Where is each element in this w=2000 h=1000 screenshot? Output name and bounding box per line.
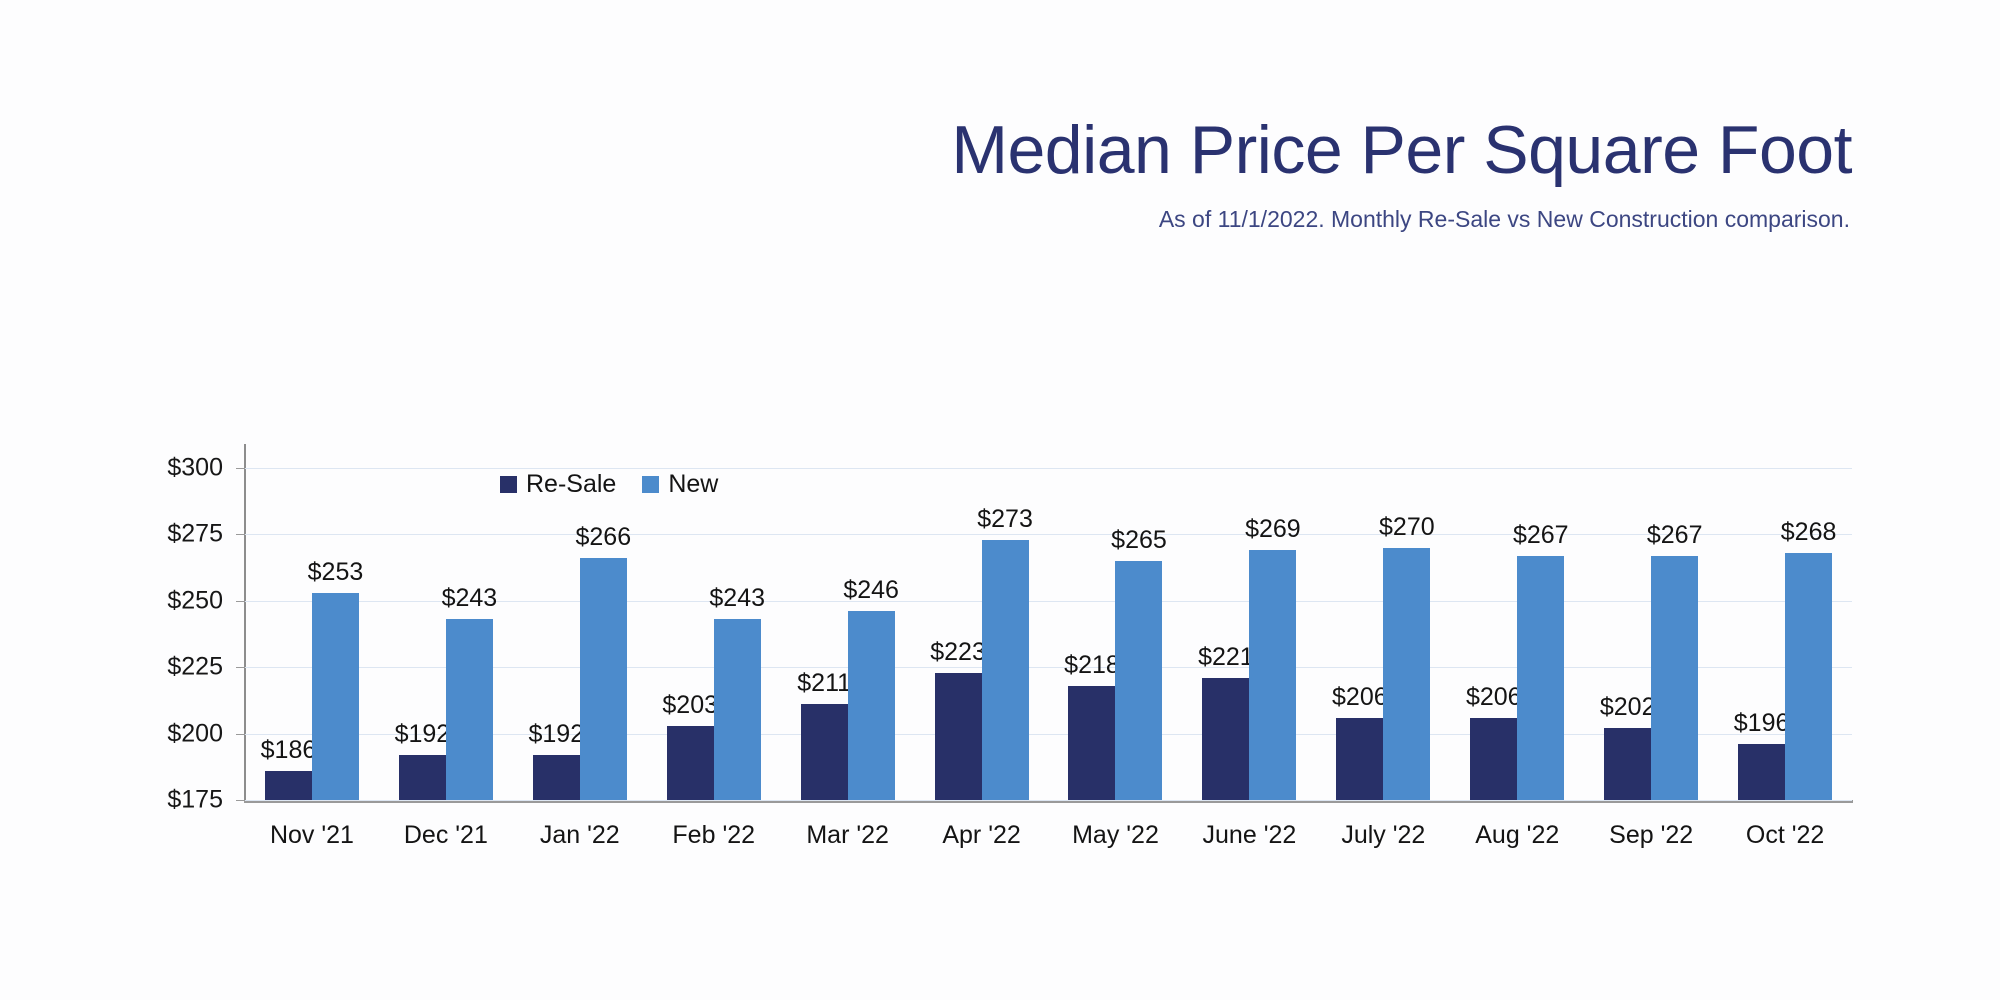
bar-new[interactable]: $243: [446, 619, 493, 800]
chart-plot-area: $300$275$250$225$200$175 $186$253Nov '21…: [245, 468, 1852, 800]
y-axis-tick-mark: [236, 468, 245, 469]
y-axis-tick-label: $225: [167, 653, 223, 682]
bar-slot: $243: [714, 468, 761, 800]
x-axis-tick-label: Nov '21: [270, 821, 354, 850]
x-axis-tick-label: Mar '22: [806, 821, 889, 850]
legend-square-swatch-icon: [500, 476, 517, 493]
bar-value-label: $269: [1245, 515, 1301, 544]
bar-value-label: $243: [709, 584, 765, 613]
bar-value-label: $223: [930, 638, 986, 667]
bar-value-label: $267: [1647, 521, 1703, 550]
legend-item-new[interactable]: New: [642, 470, 718, 499]
y-axis-tick-mark: [236, 800, 245, 801]
bar-value-label: $265: [1111, 526, 1167, 555]
bar-slot: $202: [1604, 468, 1651, 800]
bar-slot: $206: [1336, 468, 1383, 800]
bar-slot: $206: [1470, 468, 1517, 800]
x-axis-tick-label: June '22: [1203, 821, 1297, 850]
x-axis-tick-label: Apr '22: [942, 821, 1020, 850]
x-axis-tick-label: Aug '22: [1475, 821, 1559, 850]
bar-re-sale[interactable]: $186: [265, 771, 312, 800]
legend-item-label: New: [668, 470, 718, 499]
x-axis-tick-label: Feb '22: [672, 821, 755, 850]
gridline: [245, 800, 1852, 801]
bar-new[interactable]: $266: [580, 558, 627, 800]
bar-value-label: $270: [1379, 513, 1435, 542]
bar-re-sale[interactable]: $192: [533, 755, 580, 800]
bar-slot: $267: [1651, 468, 1698, 800]
bar-re-sale[interactable]: $202: [1604, 728, 1651, 800]
bar-slot: $221: [1202, 468, 1249, 800]
bar-slot: $192: [399, 468, 446, 800]
bar-re-sale[interactable]: $206: [1470, 718, 1517, 800]
x-axis-tick-label: July '22: [1341, 821, 1425, 850]
bar-new[interactable]: $268: [1785, 553, 1832, 800]
bar-value-label: $206: [1466, 683, 1522, 712]
bar-slot: $203: [667, 468, 714, 800]
bar-groups: $186$253Nov '21$192$243Dec '21$192$266Ja…: [245, 468, 1852, 800]
bar-slot: $218: [1068, 468, 1115, 800]
bar-new[interactable]: $253: [312, 593, 359, 800]
y-axis-tick-label: $275: [167, 520, 223, 549]
bar-re-sale[interactable]: $192: [399, 755, 446, 800]
bar-value-label: $192: [395, 720, 451, 749]
bar-slot: $269: [1249, 468, 1296, 800]
bar-new[interactable]: $269: [1249, 550, 1296, 800]
y-axis-tick-label: $175: [167, 786, 223, 815]
bar-slot: $192: [533, 468, 580, 800]
x-axis-tick-label: Dec '21: [404, 821, 488, 850]
bar-group: $206$270July '22: [1316, 468, 1450, 800]
bar-group: $203$243Feb '22: [647, 468, 781, 800]
x-axis-tick-label: Oct '22: [1746, 821, 1824, 850]
bar-group: $218$265May '22: [1049, 468, 1183, 800]
bar-re-sale[interactable]: $211: [801, 704, 848, 800]
bar-slot: $243: [446, 468, 493, 800]
bar-new[interactable]: $270: [1383, 548, 1430, 800]
bar-value-label: $268: [1781, 518, 1837, 547]
bar-value-label: $243: [442, 584, 498, 613]
bar-group: $196$268Oct '22: [1718, 468, 1852, 800]
bar-re-sale[interactable]: $206: [1336, 718, 1383, 800]
bar-value-label: $211: [797, 669, 851, 698]
bar-slot: $186: [265, 468, 312, 800]
bar-slot: $266: [580, 468, 627, 800]
bar-new[interactable]: $265: [1115, 561, 1162, 800]
bar-re-sale[interactable]: $203: [667, 726, 714, 800]
bar-value-label: $206: [1332, 683, 1388, 712]
bar-slot: $196: [1738, 468, 1785, 800]
bar-value-label: $203: [662, 691, 718, 720]
y-axis-tick-mark: [236, 534, 245, 535]
bar-group: $223$273Apr '22: [915, 468, 1049, 800]
bar-value-label: $218: [1064, 651, 1120, 680]
bar-value-label: $246: [843, 576, 899, 605]
x-axis-tick-label: May '22: [1072, 821, 1159, 850]
bar-value-label: $266: [575, 523, 631, 552]
bar-value-label: $186: [261, 736, 317, 765]
bar-group: $202$267Sep '22: [1584, 468, 1718, 800]
bar-re-sale[interactable]: $223: [935, 673, 982, 800]
bar-re-sale[interactable]: $196: [1738, 744, 1785, 800]
bar-value-label: $267: [1513, 521, 1569, 550]
x-axis-tick-label: Sep '22: [1609, 821, 1693, 850]
bar-slot: $267: [1517, 468, 1564, 800]
x-axis-tick-label: Jan '22: [540, 821, 620, 850]
bar-slot: $253: [312, 468, 359, 800]
bar-slot: $270: [1383, 468, 1430, 800]
bar-slot: $211: [801, 468, 848, 800]
bar-new[interactable]: $267: [1517, 556, 1564, 800]
bar-value-label: $196: [1734, 709, 1790, 738]
legend-item-re-sale[interactable]: Re-Sale: [500, 470, 616, 499]
bar-new[interactable]: $243: [714, 619, 761, 800]
legend-item-label: Re-Sale: [526, 470, 616, 499]
bar-slot: $273: [982, 468, 1029, 800]
y-axis-tick-label: $250: [167, 586, 223, 615]
bar-value-label: $253: [308, 558, 364, 587]
bar-group: $192$266Jan '22: [513, 468, 647, 800]
y-axis-tick-mark: [236, 734, 245, 735]
bar-value-label: $221: [1198, 643, 1254, 672]
page-subtitle: As of 11/1/2022. Monthly Re-Sale vs New …: [0, 184, 1862, 233]
bar-slot: $246: [848, 468, 895, 800]
bar-value-label: $273: [977, 505, 1033, 534]
bar-group: $221$269June '22: [1182, 468, 1316, 800]
bar-new[interactable]: $246: [848, 611, 895, 800]
bar-slot: $265: [1115, 468, 1162, 800]
bar-group: $192$243Dec '21: [379, 468, 513, 800]
y-axis-tick-label: $200: [167, 719, 223, 748]
bar-value-label: $202: [1600, 693, 1656, 722]
legend-square-swatch-icon: [642, 476, 659, 493]
page-title: Median Price Per Square Foot: [0, 0, 1862, 184]
y-axis-tick-mark: [236, 601, 245, 602]
bar-re-sale[interactable]: $221: [1202, 678, 1249, 800]
bar-group: $186$253Nov '21: [245, 468, 379, 800]
y-axis-tick-label: $300: [167, 454, 223, 483]
chart-header: Median Price Per Square Foot As of 11/1/…: [0, 0, 1862, 233]
bar-new[interactable]: $273: [982, 540, 1029, 800]
bar-slot: $223: [935, 468, 982, 800]
chart-legend: Re-SaleNew: [500, 470, 718, 499]
bar-re-sale[interactable]: $218: [1068, 686, 1115, 800]
bar-value-label: $192: [528, 720, 584, 749]
bar-group: $211$246Mar '22: [781, 468, 915, 800]
bar-group: $206$267Aug '22: [1450, 468, 1584, 800]
bar-new[interactable]: $267: [1651, 556, 1698, 800]
bar-slot: $268: [1785, 468, 1832, 800]
y-axis-tick-mark: [236, 667, 245, 668]
